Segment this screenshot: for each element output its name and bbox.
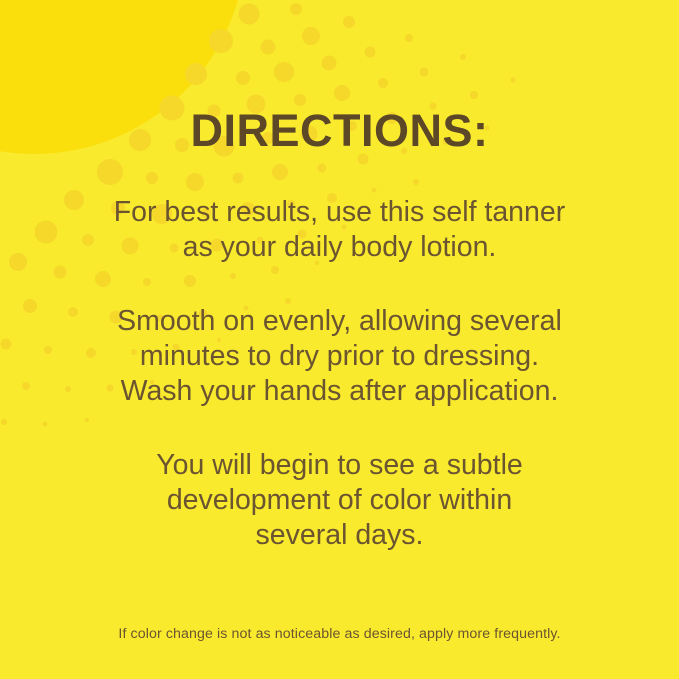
instruction-paragraph-2: Smooth on evenly, allowing several minut… [60,304,620,410]
instruction-line: You will begin to see a subtle [60,448,620,483]
instruction-line: Wash your hands after application. [60,374,620,409]
instruction-line: several days. [60,518,620,553]
instruction-paragraph-1: For best results, use this self tanner a… [60,195,620,266]
instructions-content: DIRECTIONS: For best results, use this s… [0,0,679,679]
instruction-line: For best results, use this self tanner [60,195,620,230]
instruction-line: development of color within [60,483,620,518]
footer-note: If color change is not as noticeable as … [0,626,679,642]
directions-card: DIRECTIONS: For best results, use this s… [0,0,679,679]
page-title: DIRECTIONS: [191,108,489,153]
instruction-line: Smooth on evenly, allowing several [60,304,620,339]
instruction-line: minutes to dry prior to dressing. [60,339,620,374]
instruction-paragraph-3: You will begin to see a subtle developme… [60,448,620,554]
instruction-line: as your daily body lotion. [60,230,620,265]
